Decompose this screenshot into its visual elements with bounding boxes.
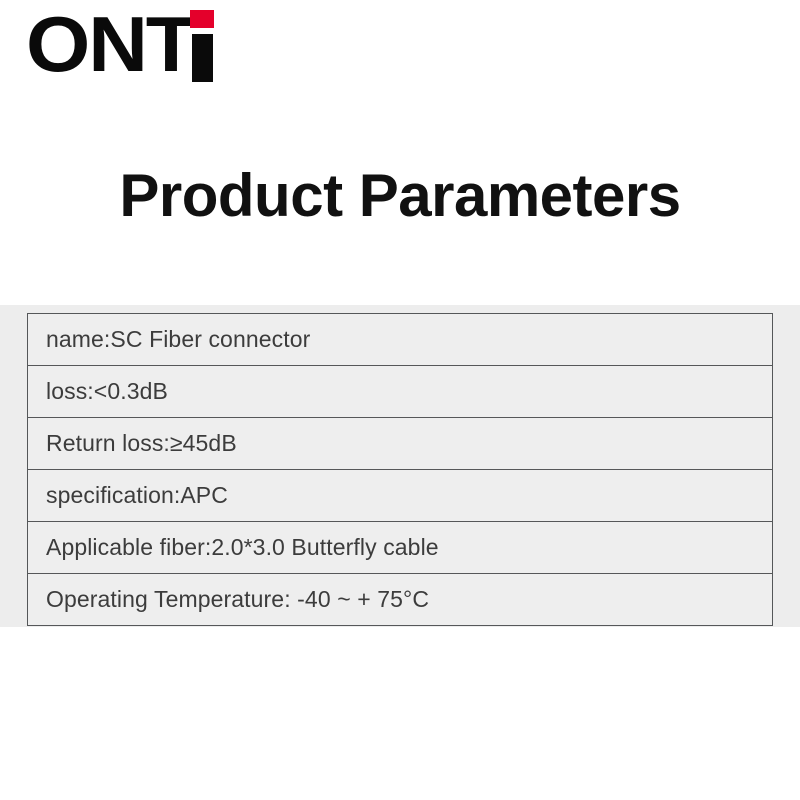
product-parameters-table: name:SC Fiber connector loss:<0.3dB Retu… xyxy=(27,313,773,626)
brand-logo-text: ONT xyxy=(26,4,194,84)
brand-logo-letter-i xyxy=(189,4,215,84)
brand-logo: ONT xyxy=(26,4,215,88)
table-row: Operating Temperature: -40 ~ + 75°C xyxy=(28,574,773,626)
table-row: loss:<0.3dB xyxy=(28,366,773,418)
spec-row-name: name:SC Fiber connector xyxy=(28,314,773,366)
spec-row-return-loss: Return loss:≥45dB xyxy=(28,418,773,470)
brand-logo-accent-dot-icon xyxy=(190,10,214,28)
spec-row-applicable-fiber: Applicable fiber:2.0*3.0 Butterfly cable xyxy=(28,522,773,574)
spec-row-loss: loss:<0.3dB xyxy=(28,366,773,418)
table-row: specification:APC xyxy=(28,470,773,522)
table-row: Applicable fiber:2.0*3.0 Butterfly cable xyxy=(28,522,773,574)
brand-logo-i-stem xyxy=(192,34,213,82)
spec-table-body: name:SC Fiber connector loss:<0.3dB Retu… xyxy=(28,314,773,626)
spec-row-operating-temperature: Operating Temperature: -40 ~ + 75°C xyxy=(28,574,773,626)
page-title: Product Parameters xyxy=(0,160,800,232)
table-row: name:SC Fiber connector xyxy=(28,314,773,366)
spec-row-specification: specification:APC xyxy=(28,470,773,522)
table-row: Return loss:≥45dB xyxy=(28,418,773,470)
spec-table-container: name:SC Fiber connector loss:<0.3dB Retu… xyxy=(0,305,800,627)
spec-table-bottom-pad xyxy=(27,626,773,627)
